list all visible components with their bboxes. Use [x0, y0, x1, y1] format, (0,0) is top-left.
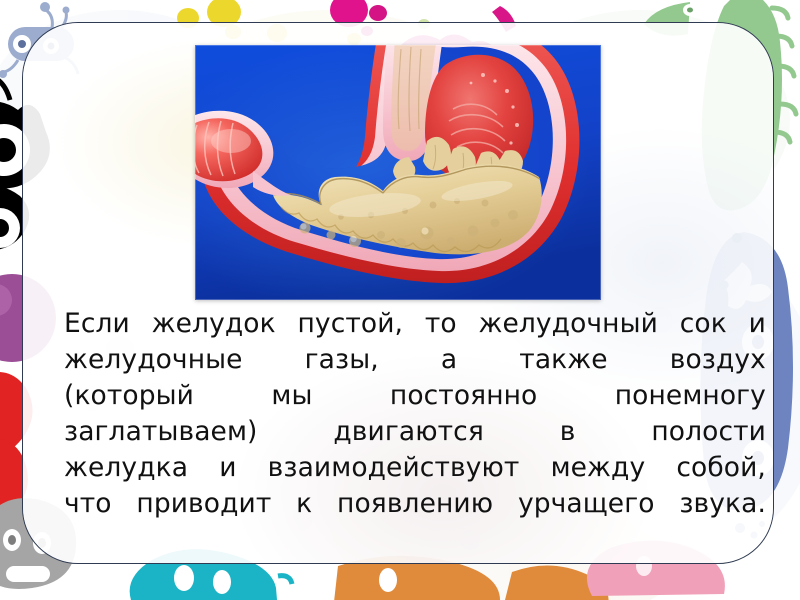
word: приводит: [136, 486, 271, 522]
word: Если: [64, 306, 130, 342]
text-line-3: (который мы постоянно понемногу: [64, 378, 766, 414]
word: собой,: [676, 450, 766, 486]
word: двигаются: [333, 414, 483, 450]
word: звука.: [679, 486, 766, 522]
text-line-6: что приводит к появлению урчащего звука.: [64, 486, 766, 522]
word: к: [296, 486, 312, 522]
word: заглатываем): [64, 414, 257, 450]
text-line-2: желудочные газы, а также воздух: [64, 342, 766, 378]
slide-canvas: Если желудок пустой, то желудочный сок и…: [0, 0, 800, 600]
word: также: [519, 342, 607, 378]
word: между: [551, 450, 646, 486]
word: желудка: [64, 450, 188, 486]
word: мы: [271, 378, 312, 414]
word: появлению: [337, 486, 493, 522]
word: и: [749, 306, 766, 342]
word: взаимодействуют: [268, 450, 520, 486]
word: желудочный: [478, 306, 657, 342]
word: и: [219, 450, 236, 486]
word: воздух: [670, 342, 766, 378]
word: урчащего: [518, 486, 655, 522]
word: то: [425, 306, 457, 342]
word: что: [64, 486, 112, 522]
text-line-4: заглатываем) двигаются в полости: [64, 414, 766, 450]
text-line-5: желудка и взаимодействуют между собой,: [64, 450, 766, 486]
word: желудочные: [64, 342, 243, 378]
word: постоянно: [390, 378, 537, 414]
word: желудок: [152, 306, 276, 342]
body-paragraph: Если желудок пустой, то желудочный сок и…: [64, 306, 766, 522]
word: а: [441, 342, 457, 378]
word: в: [560, 414, 576, 450]
word: газы,: [305, 342, 379, 378]
word: (который: [64, 378, 194, 414]
stomach-cross-section-illustration: [195, 45, 601, 300]
word: понемногу: [615, 378, 766, 414]
word: пустой,: [297, 306, 403, 342]
word: сок: [680, 306, 727, 342]
text-line-1: Если желудок пустой, то желудочный сок и: [64, 306, 766, 342]
word: полости: [651, 414, 766, 450]
